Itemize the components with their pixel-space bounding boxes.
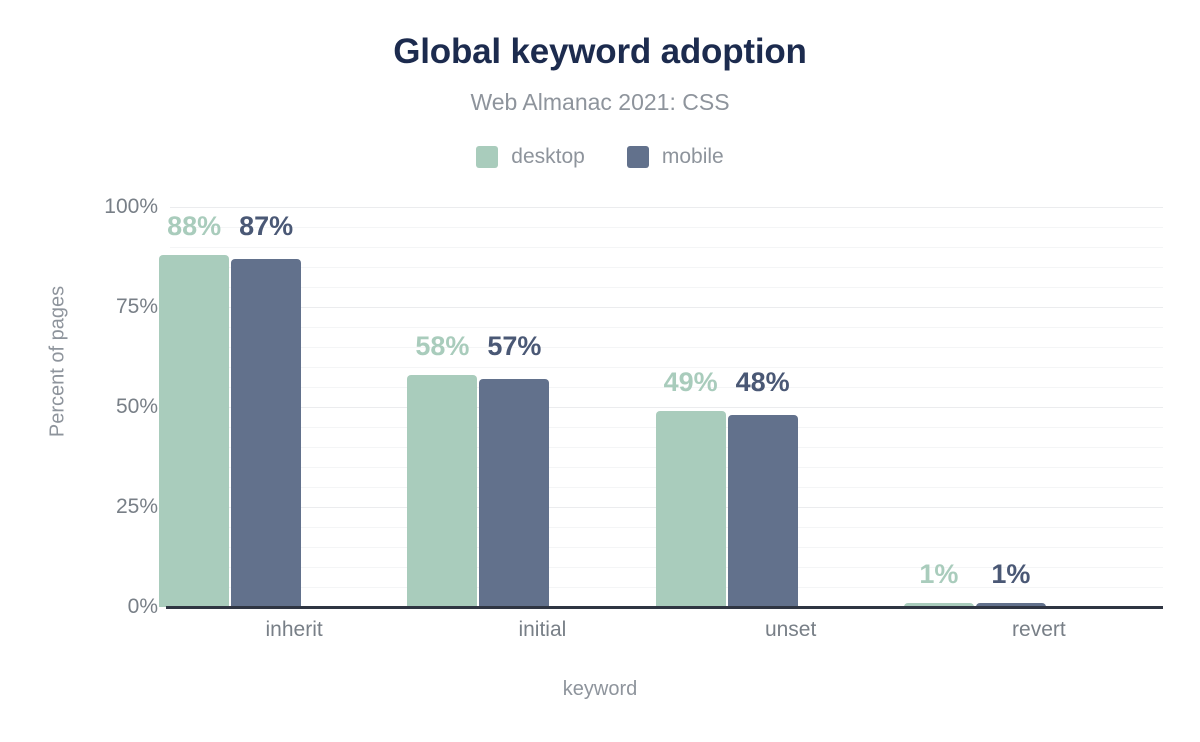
chart-title: Global keyword adoption	[0, 32, 1200, 72]
gridline-minor	[170, 347, 1163, 348]
bar-value-label-unset-mobile: 48%	[703, 367, 823, 398]
bar-initial-mobile[interactable]	[479, 379, 549, 607]
bar-value-label-initial-mobile: 57%	[454, 331, 574, 362]
legend-swatch-icon	[476, 146, 498, 168]
chart-figure: Global keyword adoption Web Almanac 2021…	[0, 0, 1200, 742]
bar-value-label-revert-mobile: 1%	[951, 559, 1071, 590]
chart-legend: desktopmobile	[0, 142, 1200, 172]
x-tick-label-inherit: inherit	[204, 618, 384, 642]
chart-subtitle: Web Almanac 2021: CSS	[0, 89, 1200, 116]
legend-swatch-icon	[627, 146, 649, 168]
y-tick-label: 50%	[86, 395, 158, 419]
bar-unset-mobile[interactable]	[728, 415, 798, 607]
legend-item-desktop[interactable]: desktop	[476, 145, 585, 169]
legend-item-mobile[interactable]: mobile	[627, 145, 724, 169]
y-tick-label: 75%	[86, 295, 158, 319]
y-tick-label: 25%	[86, 495, 158, 519]
gridline-major	[170, 407, 1163, 408]
y-tick-label: 0%	[86, 595, 158, 619]
bar-initial-desktop[interactable]	[407, 375, 477, 607]
gridline-major	[170, 207, 1163, 208]
gridline-minor	[170, 287, 1163, 288]
bar-unset-desktop[interactable]	[656, 411, 726, 607]
bar-value-label-inherit-mobile: 87%	[206, 211, 326, 242]
gridline-minor	[170, 327, 1163, 328]
x-axis-baseline	[166, 606, 1163, 609]
gridline-minor	[170, 247, 1163, 248]
legend-label: desktop	[511, 145, 585, 169]
x-tick-label-unset: unset	[701, 618, 881, 642]
legend-label: mobile	[662, 145, 724, 169]
gridline-minor	[170, 267, 1163, 268]
gridline-major	[170, 307, 1163, 308]
bar-inherit-desktop[interactable]	[159, 255, 229, 607]
x-axis-title: keyword	[0, 678, 1200, 701]
x-tick-label-initial: initial	[452, 618, 632, 642]
x-tick-label-revert: revert	[949, 618, 1129, 642]
y-axis-title: Percent of pages	[47, 282, 70, 442]
plot-area: 88%87%58%57%49%48%1%1%	[170, 207, 1163, 607]
x-axis-tick-labels: inheritinitialunsetrevert	[170, 618, 1163, 650]
y-axis-tick-labels: 0%25%50%75%100%	[86, 207, 158, 607]
bar-inherit-mobile[interactable]	[231, 259, 301, 607]
